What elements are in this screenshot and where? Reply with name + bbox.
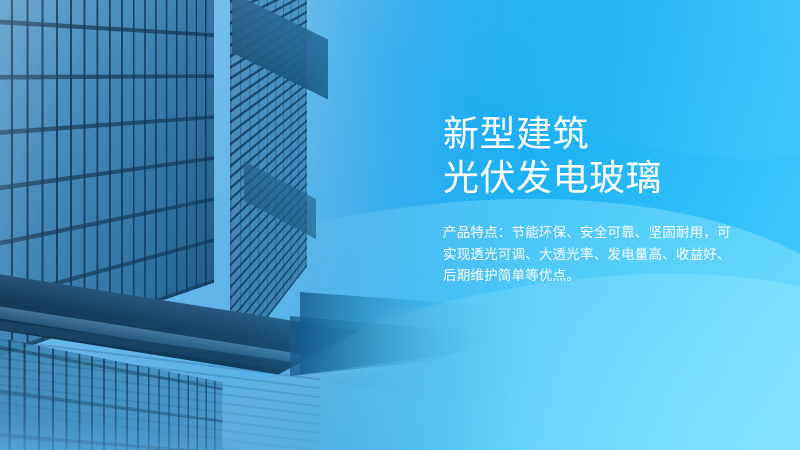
banner-title: 新型建筑 光伏发电玻璃 bbox=[443, 112, 761, 200]
copy-block: 新型建筑 光伏发电玻璃 产品特点：节能环保、安全可靠、坚固耐用，可实现透光可调、… bbox=[443, 112, 761, 287]
banner-body-text: 产品特点：节能环保、安全可靠、坚固耐用，可实现透光可调、大透光率、发电量高、收益… bbox=[443, 222, 733, 287]
promo-banner: 新型建筑 光伏发电玻璃 产品特点：节能环保、安全可靠、坚固耐用，可实现透光可调、… bbox=[0, 0, 800, 450]
title-line-1: 新型建筑 bbox=[443, 112, 761, 156]
title-line-2: 光伏发电玻璃 bbox=[443, 156, 761, 200]
